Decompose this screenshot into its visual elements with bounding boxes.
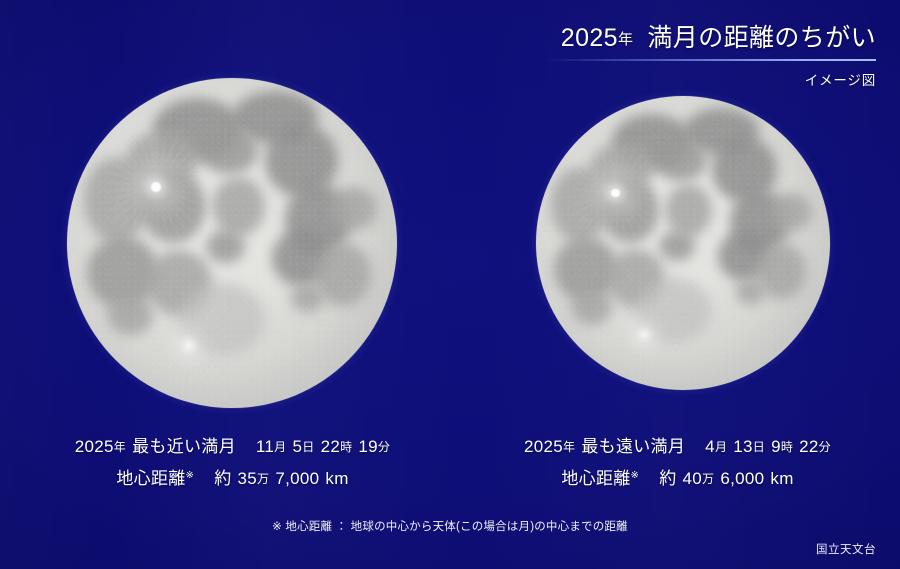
title-main: 満月の距離のちがい [647,24,876,52]
caption-minute: 19 [358,437,378,456]
distance-approx: 約 [214,469,231,488]
caption-label: 最も近い満月 [132,437,236,456]
caption-day: 5 [292,437,302,456]
limb-shading [536,96,830,390]
distance-label: 地心距離 [561,469,630,488]
credit-label: 国立天文台 [816,541,876,557]
distance-man: 35 [238,469,258,488]
distance-rest: 6,000 [720,469,764,488]
caption-farthest-line1: 2025年最も遠い満月4月13日9時22分 [455,438,900,455]
footnote-mark: ※ [186,470,195,481]
infographic-canvas: 2025年満月の距離のちがい イメージ図 [0,0,900,569]
moon-image-nearest [67,78,397,408]
title-subtitle: イメージ図 [546,69,876,89]
page-title: 2025年満月の距離のちがい [546,24,876,52]
caption-year: 2025 [524,437,563,456]
caption-month: 11 [256,437,274,456]
footnote-text: ※ 地心距離 ： 地球の中心から天体(この場合は月)の中心までの距離 [0,518,900,534]
caption-minute: 22 [799,437,819,456]
caption-day-unit: 日 [302,440,314,454]
caption-hour: 9 [771,437,781,456]
caption-month-unit: 月 [715,440,727,454]
caption-nearest-line2: 地心距離※約35万7,000km [0,470,465,487]
caption-minute-unit: 分 [378,440,390,454]
distance-man-unit: 万 [257,472,269,486]
title-year: 2025 [561,24,618,52]
caption-year-unit: 年 [563,440,575,454]
caption-label: 最も遠い満月 [581,437,685,456]
caption-nearest-line1: 2025年最も近い満月11月5日22時19分 [0,438,465,455]
caption-year-unit: 年 [114,440,126,454]
caption-hour-unit: 時 [340,440,352,454]
title-block: 2025年満月の距離のちがい イメージ図 [546,24,876,89]
moon-disc [67,78,397,408]
caption-month-unit: 月 [274,440,286,454]
caption-farthest: 2025年最も遠い満月4月13日9時22分 地心距離※約40万6,000km [455,438,900,487]
title-year-unit: 年 [618,31,633,48]
moon-image-farthest [536,96,830,390]
limb-shading [67,78,397,408]
caption-year: 2025 [75,437,114,456]
distance-unit: km [325,469,348,488]
caption-day: 13 [733,437,753,456]
caption-day-unit: 日 [753,440,765,454]
distance-man: 40 [683,469,703,488]
caption-farthest-line2: 地心距離※約40万6,000km [455,470,900,487]
caption-hour-unit: 時 [781,440,793,454]
caption-minute-unit: 分 [819,440,831,454]
moon-disc [536,96,830,390]
distance-unit: km [770,469,793,488]
distance-approx: 約 [659,469,676,488]
distance-man-unit: 万 [702,472,714,486]
title-divider [546,59,876,61]
footnote-mark: ※ [631,470,640,481]
caption-nearest: 2025年最も近い満月11月5日22時19分 地心距離※約35万7,000km [0,438,465,487]
distance-rest: 7,000 [275,469,319,488]
distance-label: 地心距離 [116,469,185,488]
caption-month: 4 [705,437,715,456]
caption-hour: 22 [321,437,341,456]
